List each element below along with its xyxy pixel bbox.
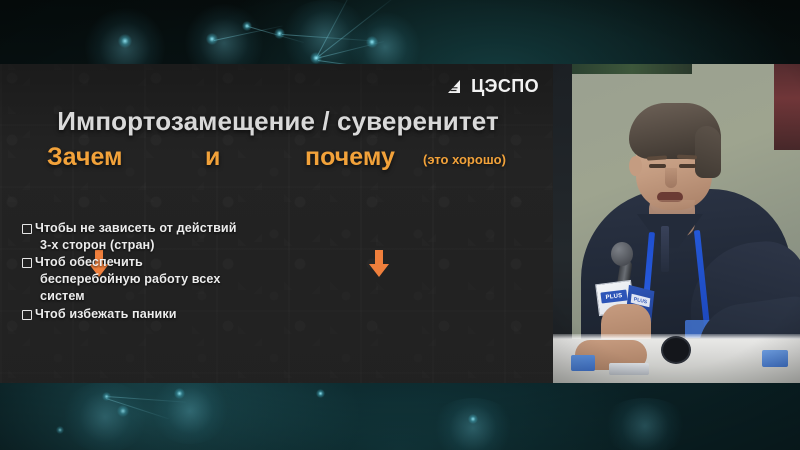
bullet-line: бесперебойную работу всех [35, 271, 220, 288]
list-item: Чтобы не зависеть от действий 3-х сторон… [22, 220, 297, 253]
bullet-line: Чтобы не зависеть от действий [35, 221, 237, 235]
cespo-logo-text: ЦЭСПО [471, 76, 539, 97]
slide-subtitle: Зачем и почему (это хорошо) [0, 143, 556, 177]
video-red-curtain [774, 64, 800, 150]
cespo-logo: ЦЭСПО [447, 76, 539, 97]
subtitle-note: (это хорошо) [423, 152, 506, 167]
subtitle-word-pochemu: почему [305, 143, 395, 172]
speaker-ear-left [629, 156, 642, 176]
table-item-blue-right [762, 350, 788, 367]
subtitle-word-i: и [205, 143, 220, 172]
speaker-nose [665, 168, 677, 188]
down-arrow-icon [368, 250, 390, 278]
bullet-line: систем [35, 288, 220, 305]
speaker-hair-side [695, 126, 721, 178]
speaker-eye-right [679, 164, 696, 168]
bullet-square-icon [22, 258, 32, 268]
screenshot-stage: ЦЭСПО Импортозамещение / суверенитет Зач… [0, 0, 800, 450]
cespo-mark-icon [447, 79, 466, 95]
table-item-white [609, 363, 649, 375]
presentation-slide: ЦЭСПО Импортозамещение / суверенитет Зач… [0, 64, 556, 383]
list-item: Чтоб избежать паники [22, 306, 297, 323]
bullet-line: Чтоб избежать паники [35, 307, 177, 321]
bullet-line: 3-х сторон (стран) [35, 237, 237, 254]
microphone-head-icon [611, 242, 633, 266]
bullet-square-icon [22, 224, 32, 234]
speaker-eye-left [649, 164, 666, 168]
speaker-chin [649, 200, 695, 214]
video-top-green-strip [572, 64, 692, 74]
speaker-wristwatch [661, 336, 691, 364]
bullet-square-icon [22, 310, 32, 320]
subtitle-word-zachem: Зачем [47, 143, 123, 172]
microphone-label-text: PLUS [605, 292, 622, 300]
slide-bullet-list: Чтобы не зависеть от действий 3-х сторон… [22, 220, 297, 323]
speaker-video-panel: PLUS PLUS [553, 64, 800, 383]
slide-title: Импортозамещение / суверенитет [0, 108, 556, 135]
speaker-zipper [661, 226, 669, 272]
slide-headline: Импортозамещение / суверенитет Зачем и п… [0, 108, 556, 177]
bullet-line: Чтоб обеспечить [35, 255, 143, 269]
bullet-text: Чтоб избежать паники [35, 306, 177, 323]
bullet-text: Чтоб обеспечить бесперебойную работу все… [35, 254, 220, 304]
bullet-text: Чтобы не зависеть от действий 3-х сторон… [35, 220, 237, 253]
table-item-blue-left [571, 355, 595, 371]
list-item: Чтоб обеспечить бесперебойную работу все… [22, 254, 297, 304]
